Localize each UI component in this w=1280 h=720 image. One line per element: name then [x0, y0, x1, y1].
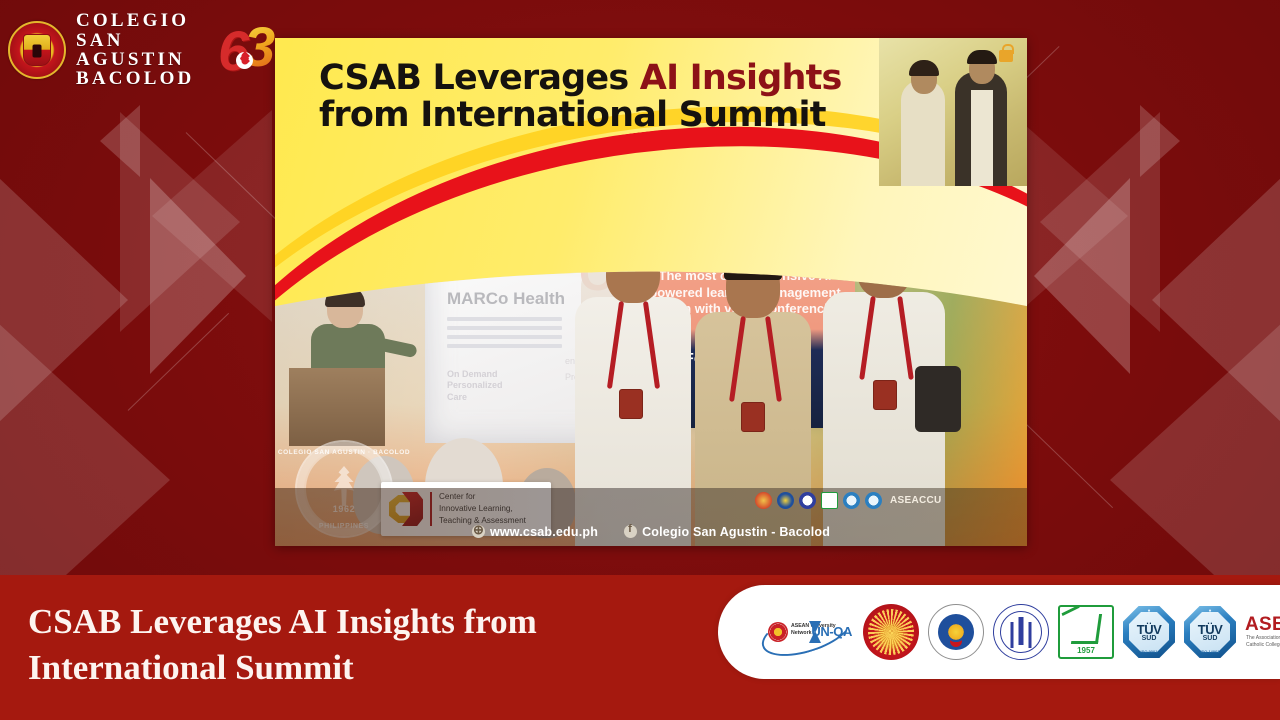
sunburst-seal-icon — [863, 604, 919, 660]
tuv-iso-label: ISO 14001 — [1184, 649, 1236, 654]
poster-facebook-text: Colegio San Agustin - Bacolod — [642, 525, 830, 539]
ched-seal-icon — [928, 604, 984, 660]
aseaccu-logo: ASEACCU The Association of Southeast and… — [1245, 610, 1280, 654]
lock-icon — [999, 50, 1013, 62]
aseaccu-label: ASEACCU — [1245, 614, 1280, 636]
poster-facebook: Colegio San Agustin - Bacolod — [624, 525, 830, 539]
poster-contact-row: www.csab.edu.ph Colegio San Agustin - Ba… — [275, 525, 1027, 539]
green-j-mark — [1071, 614, 1102, 644]
green-j-seal-icon — [821, 492, 838, 509]
brand-wordmark: COLEGIO SAN AGUSTIN BACOLOD — [76, 11, 208, 89]
brand-line-colegio: COLEGIO — [76, 11, 208, 30]
63rd-anniversary-icon: 6 3 — [218, 19, 280, 81]
accreditation-panel: ASEAN University Network UN-QA 1957 ● TÜ… — [718, 585, 1280, 679]
green-seal-year: 1957 — [1060, 646, 1112, 655]
aun-qa-logo: ASEAN University Network UN-QA — [760, 612, 854, 652]
tuv-sud-badge-icon — [865, 492, 882, 509]
green-j-seal-icon: 1957 — [1058, 605, 1114, 659]
inset-photo — [879, 38, 1027, 186]
asean-university-network-icon — [768, 622, 788, 642]
headline-part-1: CSAB Leverages — [319, 58, 640, 98]
paascu-seal-icon — [799, 492, 816, 509]
poster-website-text: www.csab.edu.ph — [490, 525, 598, 539]
inset-person-hair — [967, 50, 997, 64]
bg-triangle — [1140, 105, 1180, 177]
aseaccu-sub: The Association of Southeast and East As… — [1246, 635, 1280, 650]
brand-line-sanagustin: SAN AGUSTIN — [76, 31, 208, 70]
page-title: CSAB Leverages AI Insights from Internat… — [28, 599, 688, 691]
aseaccu-label: ASEACCU — [890, 495, 942, 506]
inset-person-shirt — [971, 90, 993, 186]
bg-triangle — [152, 110, 272, 322]
headline-part-2: from International Summit — [319, 95, 826, 135]
globe-icon — [472, 525, 485, 538]
tuv-sud-badge-icon — [843, 492, 860, 509]
headline-accent: AI Insights — [640, 58, 842, 98]
tuv-top-cap: ● — [1123, 608, 1175, 614]
tuv-sub: SUD — [1184, 635, 1236, 642]
bg-triangle — [100, 105, 140, 177]
ched-seal-icon — [777, 492, 794, 509]
poster-contact-strip: ASEACCU www.csab.edu.ph Colegio San Agus… — [275, 488, 1027, 546]
poster-website: www.csab.edu.ph — [472, 525, 598, 539]
brand-header: COLEGIO SAN AGUSTIN BACOLOD 6 3 — [0, 0, 280, 100]
aunqa-label: UN-QA — [811, 624, 852, 639]
tuv-iso-label: ISO 9001 — [1123, 649, 1175, 654]
brand-line-bacolod: BACOLOD — [76, 69, 208, 88]
tuv-sub: SUD — [1123, 635, 1175, 642]
poster-headline: CSAB Leverages AI Insights from Internat… — [319, 60, 842, 134]
paascu-seal-icon — [993, 604, 1049, 660]
footer-bar: CSAB Leverages AI Insights from Internat… — [0, 575, 1280, 720]
inset-person-hair — [909, 60, 939, 76]
tuv-sud-badge-icon: ● TÜV SUD ISO 14001 — [1184, 606, 1236, 658]
tuv-sud-badge-icon: ● TÜV SUD ISO 9001 — [1123, 606, 1175, 658]
facebook-icon — [624, 525, 637, 538]
news-poster-image: ON MARCo Health On Demand Personalized C… — [275, 38, 1027, 546]
tuv-top-cap: ● — [1184, 608, 1236, 614]
inset-person-body — [901, 80, 945, 186]
seal-top-text: COLEGIO SAN AGUSTIN · BACOLOD — [278, 449, 410, 456]
heart-icon — [236, 52, 253, 69]
sunburst-seal-icon — [755, 492, 772, 509]
csab-seal-icon — [8, 21, 66, 79]
poster-accreditation-row: ASEACCU — [755, 492, 942, 509]
